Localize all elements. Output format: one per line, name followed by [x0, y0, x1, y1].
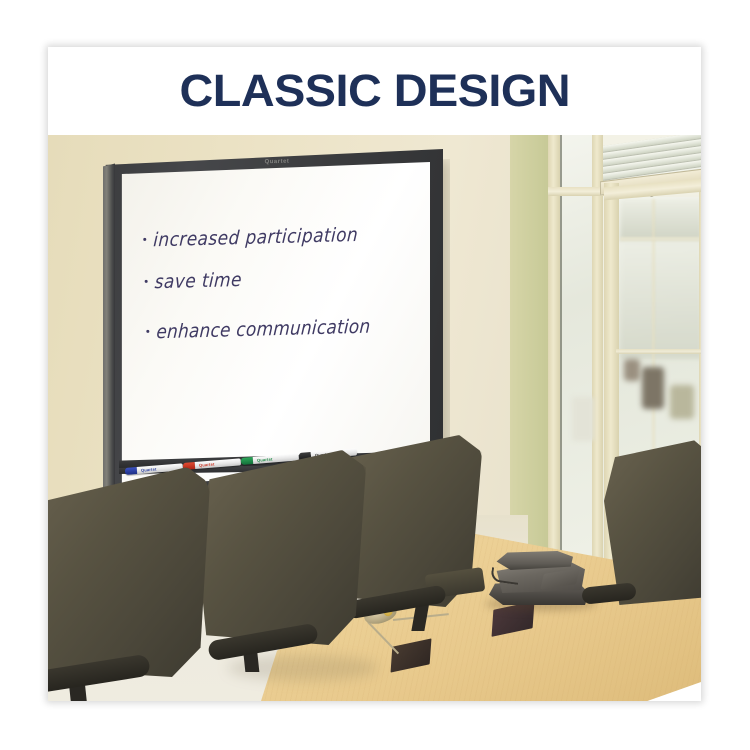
bullet-dot-icon: [143, 237, 146, 240]
far-transom-rail: [620, 237, 701, 241]
far-garden-chair: [572, 397, 594, 441]
far-conservatory-roof: [620, 199, 701, 241]
headline-band: CLASSIC DESIGN: [48, 47, 701, 135]
mullion-vertical-1: [548, 135, 560, 565]
conference-phone[interactable]: [483, 545, 593, 613]
mullion-horizontal-left: [548, 187, 604, 196]
far-picture-frame: [624, 359, 640, 381]
bullet-dot-icon: [146, 329, 149, 332]
chair-backrest: [604, 437, 701, 605]
chair-backrest: [48, 467, 210, 677]
quartet-brand-logo: Quartet: [255, 158, 299, 167]
page-root: CLASSIC DESIGN: [0, 0, 750, 750]
note-line-3: enhance communication: [146, 317, 371, 343]
far-plant: [670, 385, 694, 419]
whiteboard-frame-side-edge: [103, 149, 115, 511]
office-chair-2[interactable]: [196, 450, 376, 680]
office-chair-1[interactable]: [48, 467, 220, 701]
chair-backrest: [196, 450, 366, 645]
door-mid-rail: [616, 349, 701, 354]
product-photo-card: CLASSIC DESIGN: [48, 47, 701, 701]
far-conservatory-glass: [620, 239, 701, 359]
whiteboard-handwritten-notes: increased participation save time enhanc…: [141, 224, 406, 391]
note-line-2: save time: [144, 270, 242, 293]
office-chair-4[interactable]: [604, 437, 701, 627]
bullet-dot-icon: [145, 279, 148, 282]
conference-room-scene: Quartet increased participation save tim…: [48, 135, 701, 701]
far-dark-shape: [642, 367, 664, 409]
page-title: CLASSIC DESIGN: [179, 65, 570, 117]
note-line-1: increased participation: [143, 225, 358, 251]
phone-cord: [490, 567, 520, 585]
glass-reveal-left: [560, 135, 562, 555]
mullion-vertical-2: [592, 135, 603, 565]
